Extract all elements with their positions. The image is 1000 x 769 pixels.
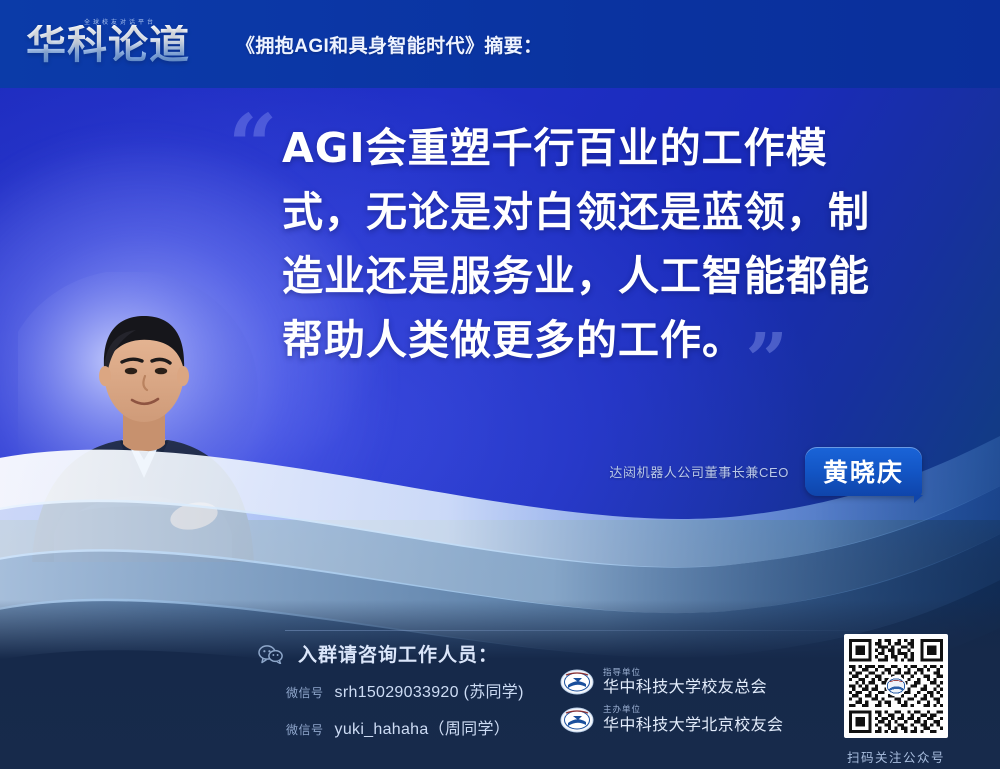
organization-text: 主办单位 华中科技大学北京校友会 bbox=[603, 705, 783, 733]
qr-code-image[interactable] bbox=[844, 634, 948, 738]
quote-close-mark: ” bbox=[745, 324, 788, 398]
organizations-block: 指导单位 华中科技大学校友总会 主办单位 华中科技大学北京校友会 bbox=[560, 668, 783, 743]
organization-kind: 主办单位 bbox=[603, 705, 783, 714]
poster-root: 全球校友对话平台 华科论道 《拥抱AGI和具身智能时代》摘要： “ AGI会重塑… bbox=[0, 0, 1000, 769]
hust-beijing-seal-icon bbox=[560, 707, 594, 733]
wechat-label: 微信号 bbox=[286, 721, 324, 738]
speaker-name-badge: 黄晓庆 bbox=[805, 447, 922, 496]
header-bar: 全球校友对话平台 华科论道 《拥抱AGI和具身智能时代》摘要： bbox=[0, 0, 1000, 88]
qr-code-matrix bbox=[849, 639, 943, 733]
speaker-role: 达闼机器人公司董事长兼CEO bbox=[609, 462, 789, 481]
qr-block: 扫码关注公众号 bbox=[836, 634, 956, 766]
quote-line: 式，无论是对白领还是蓝领，制 bbox=[282, 180, 942, 244]
wechat-icon bbox=[258, 644, 284, 664]
organization-name: 华中科技大学北京校友会 bbox=[603, 717, 783, 734]
hust-seal-icon bbox=[560, 669, 594, 695]
contact-heading-row: 入群请咨询工作人员： bbox=[258, 640, 778, 667]
organization-name: 华中科技大学校友总会 bbox=[603, 679, 767, 696]
brand-logo[interactable]: 全球校友对话平台 华科论道 bbox=[26, 16, 216, 72]
page-title: 《拥抱AGI和具身智能时代》摘要： bbox=[236, 31, 543, 58]
organization-row: 主办单位 华中科技大学北京校友会 bbox=[560, 705, 783, 733]
qr-caption: 扫码关注公众号 bbox=[836, 747, 956, 766]
wechat-label: 微信号 bbox=[286, 684, 324, 701]
quote-line: 造业还是服务业，人工智能都能 bbox=[282, 244, 942, 308]
wechat-id[interactable]: yuki_hahaha（周同学） bbox=[335, 715, 511, 739]
organization-kind: 指导单位 bbox=[603, 668, 767, 677]
quote-line: 帮助人类做更多的工作。 bbox=[282, 308, 942, 372]
quote-open-mark: “ bbox=[228, 104, 277, 190]
logo-wordmark: 华科论道 bbox=[26, 25, 190, 65]
quote-text: AGI会重塑千行百业的工作模 式，无论是对白领还是蓝领，制 造业还是服务业，人工… bbox=[282, 116, 942, 372]
footer-divider bbox=[285, 630, 900, 631]
organization-row: 指导单位 华中科技大学校友总会 bbox=[560, 668, 783, 696]
wechat-id[interactable]: srh15029033920 (苏同学) bbox=[335, 678, 524, 702]
contact-heading: 入群请咨询工作人员： bbox=[298, 640, 498, 667]
attribution: 达闼机器人公司董事长兼CEO 黄晓庆 bbox=[609, 447, 922, 496]
quote-line: AGI会重塑千行百业的工作模 bbox=[282, 116, 942, 180]
organization-text: 指导单位 华中科技大学校友总会 bbox=[603, 668, 767, 696]
